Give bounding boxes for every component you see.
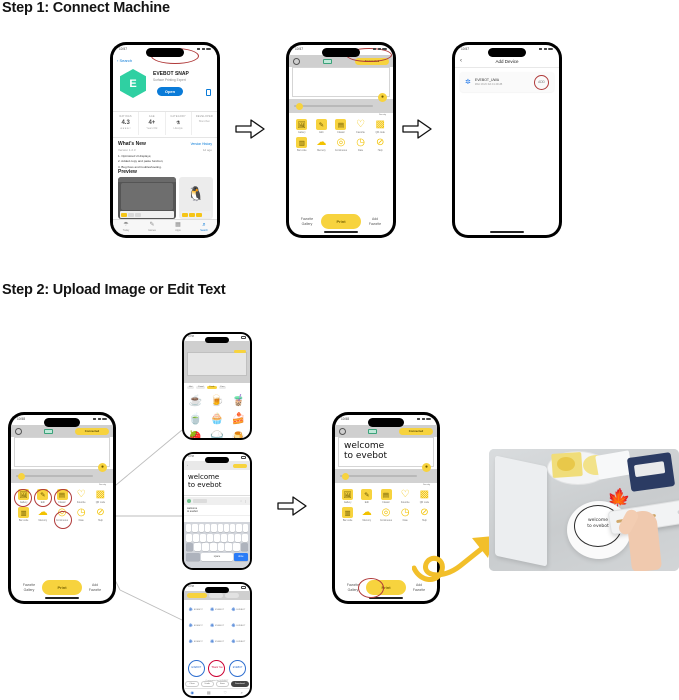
battery-icon bbox=[241, 586, 246, 589]
seal-item[interactable]: EVEBOT bbox=[188, 660, 205, 677]
text-input-field[interactable]: welcome to evebot bbox=[184, 506, 250, 516]
space-key[interactable]: space bbox=[201, 553, 232, 561]
stat-value: 4+ bbox=[139, 120, 164, 126]
toggle-spacer bbox=[371, 154, 390, 172]
favorite-gallery-button[interactable]: Favorite Gallery bbox=[16, 583, 42, 592]
step1-title: Step 1: Connect Machine bbox=[2, 0, 170, 16]
art-item[interactable]: ☕ bbox=[186, 392, 205, 408]
tool-date[interactable]: ◷Date bbox=[72, 507, 91, 522]
template-item[interactable]: ❋EVEBOT bbox=[207, 603, 226, 616]
stat-label: CATEGORY bbox=[166, 115, 191, 118]
gallery-category-tabs[interactable]: Hot Food Drink Fun bbox=[184, 384, 250, 390]
toggle-memory-wrap[interactable] bbox=[360, 524, 379, 542]
connect-badge[interactable]: Connected bbox=[75, 428, 109, 435]
toggle-spacer bbox=[295, 154, 314, 172]
app-tools-screen: 10:58 Connected ● Density 🖼Gallery bbox=[11, 415, 113, 601]
bar-code-icon: ▥ bbox=[296, 137, 307, 148]
seal-row: EVEBOT Thank You EVEBOT bbox=[186, 660, 248, 677]
whats-new-section: What's New Version History Version 1.2.3… bbox=[113, 137, 217, 172]
status-time: 10:58 bbox=[188, 335, 194, 340]
signal-icon bbox=[373, 48, 376, 51]
tab-search[interactable]: ⌕ bbox=[234, 689, 251, 696]
add-favorite-button[interactable]: Add Favorite bbox=[362, 217, 388, 226]
gallery-highlight-circle bbox=[14, 489, 32, 507]
preview-card[interactable]: 🐧 bbox=[179, 177, 213, 219]
align-icon[interactable]: ◌ bbox=[240, 499, 242, 503]
key[interactable] bbox=[211, 524, 216, 532]
phone-gallery-art: 10:58 Hot Food Drink Fun ☕ 🍺 🧋 🍵 🧁 🍰 🍓 🍚… bbox=[182, 332, 252, 440]
photo-sticker bbox=[557, 457, 575, 471]
template-item[interactable]: ❋EVEBOT bbox=[207, 619, 226, 632]
app-main-screen: 10:57 Connected ● Density 🖼Gallery bbox=[289, 45, 393, 235]
chip bbox=[189, 213, 195, 217]
tab-label: Games bbox=[139, 229, 165, 232]
density-slider-knob[interactable] bbox=[342, 473, 349, 480]
battery-icon bbox=[206, 48, 211, 51]
qr-code-icon: ▩ bbox=[375, 119, 386, 130]
template-tabbar[interactable]: ◉ ▦ ♡ ⌕ bbox=[184, 688, 250, 696]
download-button[interactable]: Download bbox=[231, 681, 249, 687]
qr-code-icon: ▩ bbox=[419, 489, 430, 500]
key[interactable] bbox=[207, 534, 213, 542]
status-icons bbox=[373, 48, 387, 51]
tool-barcode[interactable]: ▥Bar code bbox=[292, 137, 312, 152]
wifi-icon bbox=[378, 48, 381, 51]
status-time: 10:58 bbox=[341, 417, 349, 421]
tab-today[interactable]: ☂ Today bbox=[113, 220, 139, 235]
key[interactable] bbox=[193, 534, 199, 542]
key[interactable] bbox=[186, 524, 191, 532]
shift-key[interactable] bbox=[186, 543, 193, 551]
release-note: 1. Optimized UI displays; bbox=[118, 154, 212, 158]
tab-label: Today bbox=[113, 229, 139, 232]
backspace-key[interactable] bbox=[241, 543, 248, 551]
tool-label: Edit bbox=[357, 501, 376, 504]
phone-app-main: 10:57 Connected ● Density 🖼Gallery bbox=[286, 42, 396, 238]
gallery-icon: 🖼 bbox=[296, 119, 307, 130]
save-button[interactable]: Save bbox=[216, 681, 229, 687]
numbers-key[interactable] bbox=[186, 553, 200, 561]
keyboard-row-2 bbox=[186, 534, 248, 542]
heart-icon: ♡ bbox=[76, 489, 87, 500]
stat-value: ⚗ bbox=[166, 120, 191, 126]
device-battery-icon bbox=[44, 429, 53, 434]
gear-icon[interactable] bbox=[293, 58, 300, 65]
key[interactable] bbox=[221, 534, 227, 542]
toggle-continuous-wrap[interactable] bbox=[378, 524, 397, 542]
template-icon: ❋ bbox=[231, 607, 235, 613]
tool-favorite[interactable]: ♡Favorite bbox=[396, 489, 415, 504]
stat-category: CATEGORY ⚗ Lifestyle bbox=[166, 112, 192, 135]
notch bbox=[205, 337, 229, 343]
tool-label: Continuous bbox=[331, 149, 351, 152]
seal-item[interactable]: EVEBOT bbox=[229, 660, 246, 677]
tool-row-1: 🖼Gallery ✎Edit ▤Classic ♡Favorite ▩QR co… bbox=[292, 119, 390, 134]
notch bbox=[322, 48, 360, 57]
canvas-text: welcome to evebot bbox=[184, 470, 250, 489]
art-item[interactable]: 🍚 bbox=[207, 428, 226, 438]
chip bbox=[135, 213, 141, 217]
editor-back[interactable]: ‹ bbox=[187, 464, 188, 467]
template-label: EVEBOT bbox=[236, 625, 245, 627]
preview-body bbox=[121, 183, 173, 210]
today-icon: ☂ bbox=[113, 222, 139, 228]
tab-food[interactable]: Food bbox=[196, 386, 205, 389]
wifi-icon bbox=[422, 418, 425, 421]
gallery-icon: 🖼 bbox=[342, 489, 353, 500]
keyboard-row-4: space done bbox=[186, 553, 248, 561]
key[interactable] bbox=[230, 524, 235, 532]
share-icon[interactable] bbox=[206, 89, 211, 96]
tab-games[interactable]: ✎ Games bbox=[139, 220, 165, 235]
photo-box-inner bbox=[634, 461, 665, 477]
edit-icon: ✎ bbox=[361, 489, 372, 500]
key[interactable] bbox=[202, 543, 209, 551]
pill-gallery[interactable] bbox=[209, 593, 223, 598]
template-item[interactable]: ❋EVEBOT bbox=[229, 619, 248, 632]
pill-evebot[interactable] bbox=[187, 593, 207, 598]
template-icon: ❋ bbox=[189, 639, 193, 645]
tool-label: Favorite bbox=[72, 501, 91, 504]
tool-classic[interactable]: ▤Classic bbox=[376, 489, 395, 504]
status-time: 10:57 bbox=[295, 47, 303, 51]
edit-highlight-circle bbox=[34, 489, 52, 507]
toggle-spacer bbox=[17, 524, 36, 542]
seal-item[interactable]: Thank You bbox=[208, 660, 225, 677]
template-icon: ❋ bbox=[210, 623, 214, 629]
tool-qrcode[interactable]: ▩QR code bbox=[91, 489, 110, 504]
status-icons bbox=[197, 48, 211, 51]
density-slider-row[interactable]: ● Density bbox=[335, 469, 437, 483]
tool-memory[interactable]: ☁Memory bbox=[312, 137, 332, 152]
template-label: EVEBOT bbox=[236, 641, 245, 643]
continuous-icon: ◎ bbox=[335, 137, 346, 148]
density-slider-track[interactable] bbox=[294, 105, 373, 107]
device-info: EVEBOT_UWA MAC:18:2C:DA:C1:4D:2B bbox=[475, 78, 502, 86]
key[interactable] bbox=[236, 524, 241, 532]
chip bbox=[182, 213, 188, 217]
template-item[interactable]: ❋EVEBOT bbox=[186, 603, 205, 616]
key[interactable] bbox=[194, 543, 201, 551]
key[interactable] bbox=[192, 524, 197, 532]
gallery-screen: 10:58 Hot Food Drink Fun ☕ 🍺 🧋 🍵 🧁 🍰 🍓 🍚… bbox=[184, 334, 250, 438]
preview-canvas[interactable]: welcome to evebot bbox=[338, 437, 434, 467]
continuous-highlight-circle bbox=[54, 511, 72, 529]
key[interactable] bbox=[186, 534, 192, 542]
device-list-item[interactable]: ✲ EVEBOT_UWA MAC:18:2C:DA:C1:4D:2B ADD bbox=[460, 72, 554, 92]
preview-title: Preview bbox=[118, 169, 137, 175]
toggle-spacer bbox=[341, 524, 360, 542]
tab-apps[interactable]: ▦ Apps bbox=[165, 220, 191, 235]
key[interactable] bbox=[243, 524, 248, 532]
tool-label: Edit bbox=[312, 131, 332, 134]
art-item[interactable]: 🍺 bbox=[207, 392, 226, 408]
preview-canvas[interactable] bbox=[292, 67, 390, 97]
tool-qrcode[interactable]: ▩QR code bbox=[370, 119, 390, 134]
tool-label: Bar code bbox=[292, 149, 312, 152]
signal-icon bbox=[417, 418, 420, 421]
wifi-icon bbox=[544, 48, 547, 51]
density-slider-row[interactable]: ● Density bbox=[11, 469, 113, 483]
device-name: EVEBOT_UWA bbox=[475, 78, 502, 82]
density-slider-track[interactable] bbox=[16, 475, 93, 477]
print-button[interactable]: Print bbox=[321, 214, 361, 229]
heart-icon: ♡ bbox=[355, 119, 366, 130]
device-mac: MAC:18:2C:DA:C1:4D:2B bbox=[475, 83, 502, 86]
arrow-right-icon bbox=[402, 118, 432, 140]
favorite-gallery-button[interactable]: Favorite Gallery bbox=[294, 217, 320, 226]
key[interactable] bbox=[218, 543, 225, 551]
preview-screenshots[interactable]: 🐧 bbox=[118, 177, 214, 219]
tab-hot[interactable]: Hot bbox=[187, 386, 194, 389]
key[interactable] bbox=[225, 543, 232, 551]
gallery-preview-header bbox=[184, 341, 250, 383]
gear-icon[interactable] bbox=[339, 428, 346, 435]
notch bbox=[44, 418, 80, 427]
tool-edit[interactable]: ✎Edit bbox=[357, 489, 376, 504]
stat-sub: Lifestyle bbox=[166, 127, 191, 130]
gallery-preview-canvas[interactable] bbox=[187, 352, 247, 376]
toggle-continuous-wrap[interactable] bbox=[333, 154, 352, 172]
bluetooth-icon: ✲ bbox=[465, 78, 471, 86]
status-icons bbox=[241, 455, 246, 460]
phone-text-editor: 10:58 ‹ welcome to evebot ◌ ⋮ welcome to… bbox=[182, 452, 252, 570]
canvas-text bbox=[293, 68, 389, 71]
tool-label: QR code bbox=[415, 501, 434, 504]
template-footer-buttons: Clear Undo Save Download bbox=[186, 681, 248, 687]
signal-icon bbox=[93, 418, 96, 421]
app-stats: RATINGS 4.3 ★★★★☆ AGE 4+ Years Old CATEG… bbox=[113, 111, 217, 135]
pill-new[interactable] bbox=[225, 593, 239, 598]
battery-icon bbox=[102, 418, 107, 421]
toggle-memory-wrap[interactable] bbox=[36, 524, 55, 542]
battery-icon bbox=[426, 418, 431, 421]
phone-add-device: 10:57 ‹ Add Device ✲ EVEBOT_UWA MAC:18:2… bbox=[452, 42, 562, 238]
product-photo: 🍁 welcome to evebot bbox=[489, 449, 679, 571]
art-item[interactable]: 🧁 bbox=[207, 410, 226, 426]
toggle-spacer bbox=[352, 154, 371, 172]
art-item[interactable]: 🍮 bbox=[229, 428, 248, 438]
tab-search[interactable]: ⌕ Search bbox=[191, 220, 217, 235]
key[interactable] bbox=[224, 524, 229, 532]
connect-badge[interactable]: Connected bbox=[399, 428, 433, 435]
wifi-icon bbox=[202, 48, 205, 51]
tab-favorites[interactable]: ♡ bbox=[217, 689, 234, 696]
editor-confirm-chip[interactable] bbox=[233, 464, 247, 468]
tool-gallery[interactable]: 🖼Gallery bbox=[338, 489, 357, 504]
tool-label: Gallery bbox=[292, 131, 312, 134]
status-time: 10:57 bbox=[119, 47, 127, 51]
app-icon: E bbox=[120, 69, 146, 98]
art-grid: ☕ 🍺 🧋 🍵 🧁 🍰 🍓 🍚 🍮 bbox=[186, 392, 248, 438]
template-icon: ❋ bbox=[231, 623, 235, 629]
key[interactable] bbox=[235, 534, 241, 542]
density-slider-knob[interactable] bbox=[18, 473, 25, 480]
add-device-button[interactable]: ADD bbox=[534, 75, 549, 90]
phone-app-tools: 10:58 Connected ● Density 🖼Gallery bbox=[8, 412, 116, 604]
arrow-right-icon bbox=[235, 118, 265, 140]
print-button[interactable]: Print bbox=[42, 580, 82, 595]
device-battery-icon bbox=[323, 59, 332, 64]
art-item[interactable]: 🍓 bbox=[186, 428, 205, 438]
density-slider-track[interactable] bbox=[340, 475, 417, 477]
template-icon: ❋ bbox=[210, 639, 214, 645]
return-key[interactable]: done bbox=[234, 553, 248, 561]
tab-drink[interactable]: Drink bbox=[207, 386, 216, 389]
tool-qrcode[interactable]: ▩QR code bbox=[415, 489, 434, 504]
color-swatch-icon[interactable] bbox=[187, 499, 191, 503]
tab-label: Apps bbox=[165, 229, 191, 232]
tool-memory[interactable]: ☁Memory bbox=[33, 507, 52, 522]
preview-canvas[interactable] bbox=[14, 437, 110, 467]
status-time: 10:58 bbox=[188, 455, 194, 460]
open-button[interactable]: Open bbox=[157, 87, 183, 96]
tool-label: Continuous bbox=[376, 519, 395, 522]
clear-button[interactable]: Clear bbox=[185, 681, 198, 687]
tool-continuous[interactable]: ◎Continuous bbox=[331, 137, 351, 152]
undo-button[interactable]: Undo bbox=[201, 681, 214, 687]
stat-sub: Years Old bbox=[139, 127, 164, 130]
density-icon: ● bbox=[378, 93, 387, 102]
template-label: EVEBOT bbox=[215, 625, 224, 627]
template-icon: ❋ bbox=[231, 639, 235, 645]
tool-barcode[interactable]: ▥Bar code bbox=[14, 507, 33, 522]
tool-label: Memory bbox=[33, 519, 52, 522]
qr-code-icon: ▩ bbox=[95, 489, 106, 500]
tool-label: Classic bbox=[376, 501, 395, 504]
battery-icon bbox=[382, 48, 387, 51]
arrow-right-icon bbox=[277, 495, 307, 517]
onscreen-keyboard[interactable]: space done bbox=[184, 522, 250, 568]
status-time: 10:58 bbox=[188, 585, 194, 590]
toggle-knob bbox=[389, 525, 394, 530]
template-icon: ❋ bbox=[189, 623, 193, 629]
status-icons bbox=[241, 585, 246, 590]
art-item[interactable]: 🧋 bbox=[229, 392, 248, 408]
template-label: EVEBOT bbox=[215, 641, 224, 643]
template-icon: ❋ bbox=[189, 607, 193, 613]
search-icon: ⌕ bbox=[191, 222, 217, 228]
key[interactable] bbox=[218, 524, 223, 532]
back-icon[interactable]: ‹ bbox=[460, 58, 462, 64]
chip bbox=[128, 213, 134, 217]
key[interactable] bbox=[214, 534, 220, 542]
tool-help[interactable]: ⊘Help bbox=[370, 137, 390, 152]
gear-icon[interactable] bbox=[15, 428, 22, 435]
font-toolbar[interactable]: ◌ ⋮ bbox=[184, 497, 250, 505]
help-icon: ⊘ bbox=[375, 137, 386, 148]
home-indicator bbox=[490, 231, 524, 233]
input-line-2: to evebot bbox=[187, 510, 247, 513]
tool-label: Memory bbox=[357, 519, 376, 522]
template-gallery-screen: 10:58 ❋EVEBOT ❋EVEBOT ❋EVEBOT ❋EVEBOT ❋E… bbox=[184, 584, 250, 696]
classic-icon: ▤ bbox=[381, 489, 392, 500]
text-editor-screen: 10:58 ‹ welcome to evebot ◌ ⋮ welcome to… bbox=[184, 454, 250, 568]
more-icon[interactable]: ⋮ bbox=[244, 499, 247, 503]
art-item[interactable]: 🍵 bbox=[186, 410, 205, 426]
density-slider-row[interactable]: ● Density bbox=[289, 99, 393, 113]
tool-label: QR code bbox=[370, 131, 390, 134]
status-icons bbox=[417, 418, 431, 421]
tool-barcode[interactable]: ▥Bar code bbox=[338, 507, 357, 522]
notch bbox=[146, 48, 184, 57]
density-slider-knob[interactable] bbox=[296, 103, 303, 110]
font-selector[interactable] bbox=[193, 499, 207, 504]
add-favorite-button[interactable]: Add Favorite bbox=[82, 583, 108, 592]
key[interactable] bbox=[199, 524, 204, 532]
preview-footer bbox=[120, 211, 174, 218]
battery-icon bbox=[241, 456, 246, 459]
tool-continuous[interactable]: ◎Continuous bbox=[376, 507, 395, 522]
tab-fun[interactable]: Fun bbox=[219, 386, 227, 389]
continuous-icon: ◎ bbox=[381, 507, 392, 518]
toggle-spacer bbox=[73, 524, 92, 542]
device-battery-icon bbox=[368, 429, 377, 434]
battery-icon bbox=[548, 48, 553, 51]
appstore-tabbar[interactable]: ☂ Today ✎ Games ▦ Apps ⌕ Search bbox=[113, 219, 217, 235]
notch bbox=[205, 457, 229, 463]
art-item[interactable]: 🍰 bbox=[229, 410, 248, 426]
tool-edit[interactable]: ✎Edit bbox=[312, 119, 332, 134]
cloud-icon: ☁ bbox=[361, 507, 372, 518]
tool-date[interactable]: ◷Date bbox=[351, 137, 371, 152]
keyboard-row-3 bbox=[186, 543, 248, 551]
key[interactable] bbox=[205, 524, 210, 532]
tool-label: Gallery bbox=[338, 501, 357, 504]
stat-developer: DEVELOPER Shenzhen bbox=[192, 112, 217, 135]
template-item[interactable]: ❋EVEBOT bbox=[229, 603, 248, 616]
template-item[interactable]: ❋EVEBOT bbox=[186, 619, 205, 632]
key[interactable] bbox=[200, 534, 206, 542]
games-icon: ✎ bbox=[139, 222, 165, 228]
tool-favorite[interactable]: ♡Favorite bbox=[351, 119, 371, 134]
tool-memory[interactable]: ☁Memory bbox=[357, 507, 376, 522]
template-label: EVEBOT bbox=[194, 625, 203, 627]
tool-label: Classic bbox=[331, 131, 351, 134]
template-item[interactable]: ❋EVEBOT bbox=[229, 635, 248, 648]
preview-card[interactable] bbox=[118, 177, 176, 219]
template-item[interactable]: ❋EVEBOT bbox=[186, 635, 205, 648]
tool-gallery[interactable]: 🖼Gallery bbox=[292, 119, 312, 134]
gallery-action-chip[interactable] bbox=[234, 350, 246, 353]
key[interactable] bbox=[242, 534, 248, 542]
tool-classic[interactable]: ▤Classic bbox=[331, 119, 351, 134]
status-icons bbox=[241, 335, 246, 340]
cloud-icon: ☁ bbox=[37, 507, 48, 518]
tab-browse[interactable]: ▦ bbox=[201, 689, 218, 696]
template-item[interactable]: ❋EVEBOT bbox=[207, 635, 226, 648]
key[interactable] bbox=[228, 534, 234, 542]
version-history-link[interactable]: Version History bbox=[191, 142, 212, 146]
preview-footer bbox=[181, 211, 211, 218]
toggle-memory-wrap[interactable] bbox=[314, 154, 333, 172]
tool-row-2: ▥Bar code ☁Memory ◎Continuous ◷Date ⊘Hel… bbox=[292, 137, 390, 152]
tool-favorite[interactable]: ♡Favorite bbox=[72, 489, 91, 504]
editor-canvas[interactable]: welcome to evebot bbox=[184, 470, 250, 496]
key[interactable] bbox=[210, 543, 217, 551]
tab-label: Search bbox=[191, 229, 217, 232]
key[interactable] bbox=[233, 543, 240, 551]
template-label: EVEBOT bbox=[194, 609, 203, 611]
tool-help[interactable]: ⊘Help bbox=[91, 507, 110, 522]
stat-sub: Shenzhen bbox=[192, 120, 217, 123]
version-age: 1d ago bbox=[203, 148, 212, 152]
canvas-text bbox=[15, 438, 109, 441]
app-bottom-bar: Favorite Gallery Print Add Favorite bbox=[289, 214, 393, 229]
toggle-knob bbox=[337, 155, 342, 160]
signal-icon bbox=[539, 48, 542, 51]
tab-home[interactable]: ◉ bbox=[184, 689, 201, 696]
